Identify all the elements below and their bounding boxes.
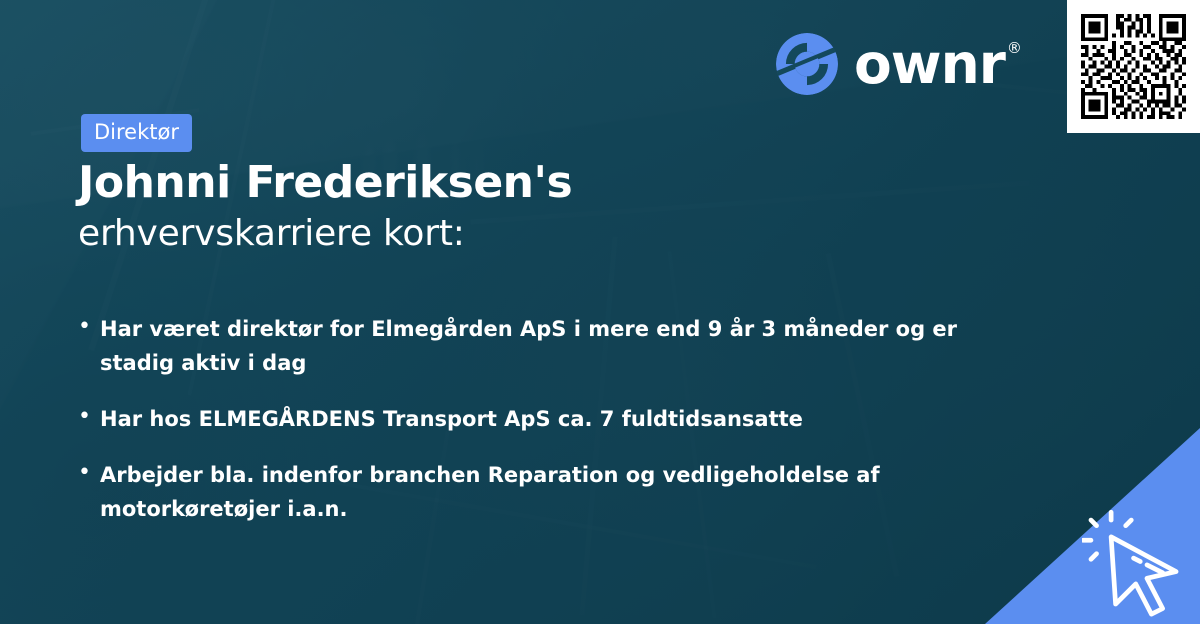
career-facts-list: • Har været direktør for Elmegården ApS … [78, 312, 958, 548]
click-cursor-icon [1082, 510, 1194, 622]
qr-code-panel[interactable] [1067, 0, 1200, 133]
page-title: Johnni Frederiksen's erhvervskarriere ko… [78, 158, 978, 255]
ownr-logo[interactable]: ownr ® [776, 33, 1022, 95]
list-item: • Har været direktør for Elmegården ApS … [78, 312, 958, 380]
list-item: • Har hos ELMEGÅRDENS Transport ApS ca. … [78, 402, 958, 436]
registered-trademark-icon: ® [1007, 41, 1022, 56]
ownr-wordmark: ownr [854, 37, 1005, 92]
list-item-text: Har hos ELMEGÅRDENS Transport ApS ca. 7 … [100, 402, 803, 436]
list-item-text: Har været direktør for Elmegården ApS i … [100, 312, 958, 380]
qr-code-icon [1077, 10, 1190, 123]
ownr-wordmark-wrap: ownr ® [854, 37, 1022, 92]
bullet-icon: • [78, 402, 90, 432]
list-item: • Arbejder bla. indenfor branchen Repara… [78, 458, 958, 526]
bullet-icon: • [78, 312, 90, 342]
headline-secondary: erhvervskarriere kort: [78, 212, 978, 255]
bullet-icon: • [78, 458, 90, 488]
role-badge: Direktør [81, 114, 192, 152]
headline-primary: Johnni Frederiksen's [78, 158, 978, 208]
list-item-text: Arbejder bla. indenfor branchen Reparati… [100, 458, 958, 526]
ownr-circle-logo-icon [776, 33, 838, 95]
business-card-banner: ownr ® [0, 0, 1200, 624]
